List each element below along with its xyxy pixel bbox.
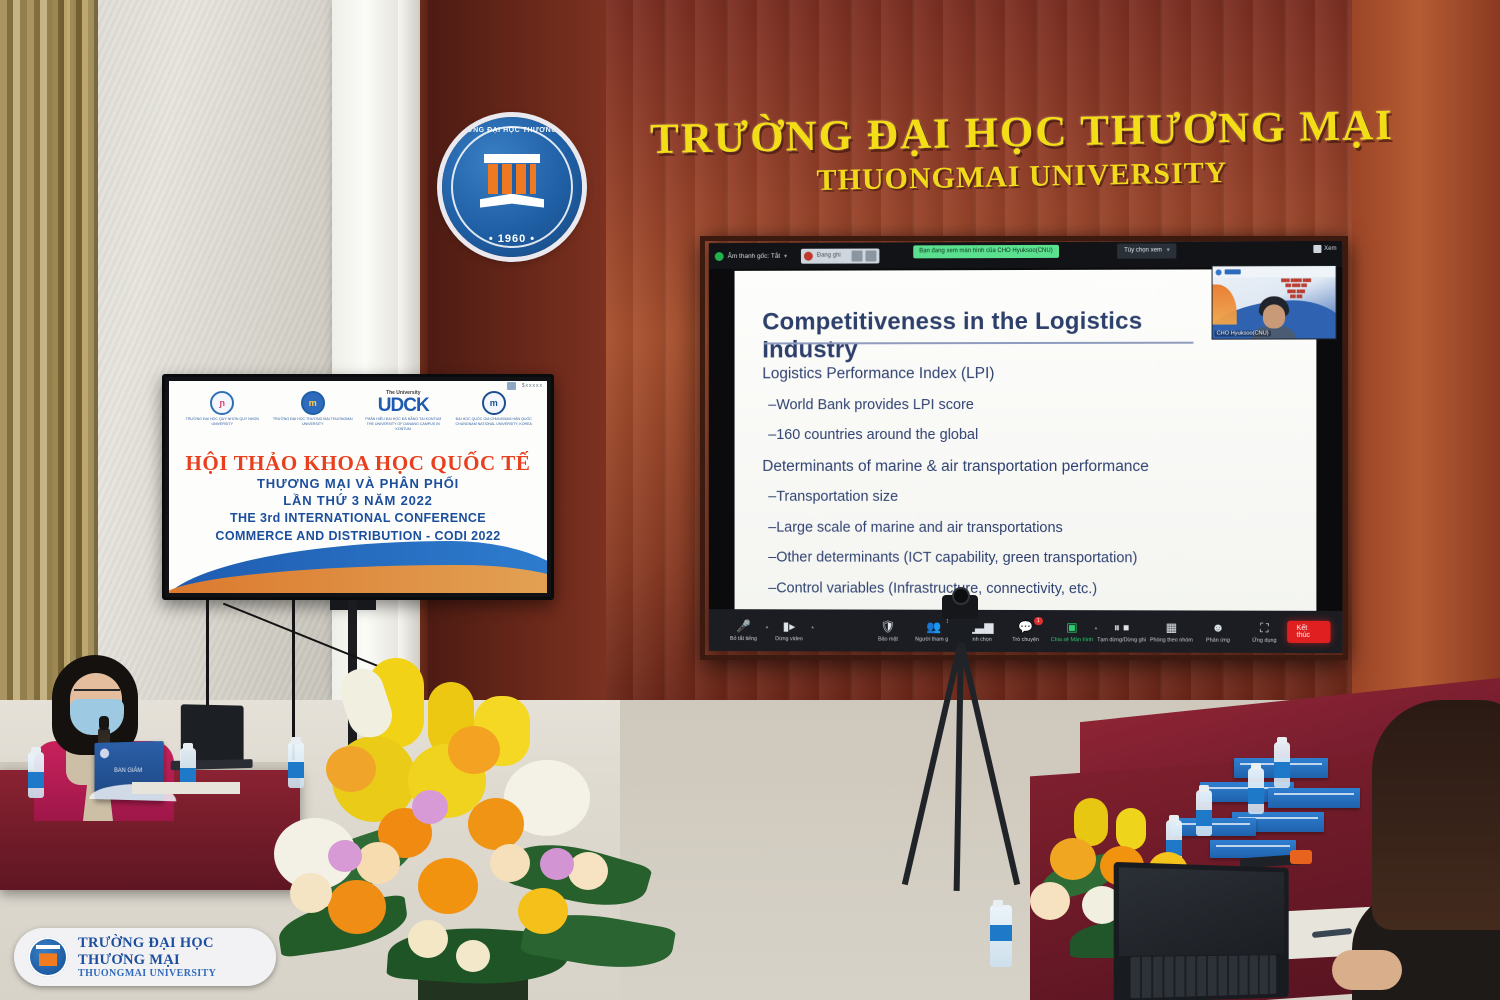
- reactions-icon: ☻: [1212, 620, 1225, 635]
- thumbnail-top-bar: [1213, 266, 1336, 277]
- bottle-label: [1274, 762, 1290, 778]
- seated-person-right: [1372, 700, 1500, 1000]
- breakout-rooms-label: Phòng theo nhóm: [1150, 637, 1193, 643]
- shield-icon: 🛡: [880, 619, 895, 634]
- cream-lily: [456, 940, 490, 972]
- nameplate-text: BAN GIÁM: [95, 768, 164, 774]
- logo-caption: TRƯỜNG ĐẠI HỌC QUY NHƠN QUY NHON UNIVERS…: [180, 417, 264, 427]
- microphone-windscreen: [1290, 850, 1312, 864]
- poster-corner-label: $xxxxx: [522, 383, 543, 389]
- recording-label: Đang ghi: [816, 253, 849, 259]
- slide-bullet: –Large scale of marine and air transport…: [762, 520, 1302, 535]
- breakout-rooms-icon: ▦: [1166, 619, 1177, 634]
- cream-rose: [290, 873, 332, 913]
- purple-chrysanthemum: [540, 848, 574, 880]
- tmu-seal-icon: [28, 937, 68, 977]
- participant-name-label: CHO Hyuksoo(CNU): [1215, 331, 1271, 337]
- avatar-face: [1263, 304, 1285, 328]
- slide-bullet: –Control variables (Infrastructure, conn…: [762, 581, 1302, 597]
- udck-mark: UDCK: [378, 395, 429, 416]
- purple-chrysanthemum: [412, 790, 448, 824]
- quy-nhon-logo-icon: ɲ: [210, 391, 234, 415]
- orange-rose: [1050, 838, 1096, 880]
- cream-rose: [568, 852, 608, 890]
- bottle-cap: [183, 743, 193, 750]
- participant-video-thumbnail[interactable]: ▇▇▇ ▇▇▇▇ ▇▇▇▇▇ ▇▇▇ ▇▇▇▇▇ ▇▇▇▇▇ ▇▇ CHO Hy…: [1212, 265, 1337, 340]
- pause-icon[interactable]: [852, 250, 863, 261]
- gold-curtain-fold: [52, 0, 98, 700]
- view-mode-label: Xem: [1324, 246, 1336, 252]
- chevron-down-icon: ▾: [784, 252, 787, 259]
- mute-indicator-icon: [1216, 269, 1222, 275]
- bottle-label: [990, 925, 1012, 941]
- seal-cap-shape: [484, 154, 540, 163]
- poster-title: HỘI THẢO KHOA HỌC QUỐC TẾ: [169, 451, 547, 476]
- cream-rose: [490, 844, 530, 882]
- bottle-cap: [1277, 737, 1287, 744]
- face-mask: [70, 699, 124, 735]
- bottle-label: [1248, 788, 1264, 804]
- grid-view-icon: [1313, 245, 1321, 253]
- apps-label: Ứng dụng: [1252, 638, 1276, 644]
- poster-subtitle-4: COMMERCE AND DISTRIBUTION - CODI 2022: [169, 529, 547, 543]
- microphone-muted-icon: 🎤: [736, 618, 751, 633]
- thumbnail-backdrop-accent: [1212, 284, 1237, 324]
- poster-logo-row: ɲ TRƯỜNG ĐẠI HỌC QUY NHƠN QUY NHON UNIVE…: [169, 391, 547, 432]
- slide-bullet: –Transportation size: [762, 490, 1302, 505]
- slide-title: Competitiveness in the Logistics Industr…: [762, 308, 1221, 365]
- audio-source-control[interactable]: Âm thanh gốc: Tắt ▾: [715, 251, 787, 260]
- share-screen-icon: ▣: [1066, 619, 1077, 634]
- orange-rose: [448, 726, 500, 774]
- audio-source-label: Âm thanh gốc: Tắt: [728, 252, 780, 259]
- share-screen-button[interactable]: ▣ Chia sẻ Màn hình ▴: [1049, 619, 1096, 643]
- chevron-down-icon: ▾: [1167, 247, 1170, 253]
- water-bottle: [28, 752, 44, 798]
- poster-subtitle-3: THE 3rd INTERNATIONAL CONFERENCE: [169, 511, 547, 525]
- record-icon: [804, 251, 813, 260]
- poster-subtitle-2: LẦN THỨ 3 NĂM 2022: [169, 493, 547, 508]
- conference-room-photo: TRƯỜNG ĐẠI HỌC THƯƠNG MẠI • 1960 • TRƯỜN…: [0, 0, 1500, 1000]
- poster-subtitle-1: THƯƠNG MẠI VÀ PHÂN PHỐI: [169, 476, 547, 491]
- conference-kit-box: [1268, 788, 1360, 808]
- logo-quy-nhon: ɲ TRƯỜNG ĐẠI HỌC QUY NHƠN QUY NHON UNIVE…: [180, 391, 264, 427]
- mute-button-label: Bỏ tắt tiếng: [730, 636, 757, 642]
- person-hand: [1332, 950, 1402, 990]
- orange-rose: [468, 798, 524, 850]
- watermark-badge: TRƯỜNG ĐẠI HỌC THƯƠNG MẠI THUONGMAI UNIV…: [14, 928, 276, 986]
- thumbnail-label-chip: [1225, 269, 1241, 274]
- watermark-line-1: TRƯỜNG ĐẠI HỌC THƯƠNG MẠI: [78, 935, 262, 968]
- flower-bouquet-center: [268, 648, 688, 1000]
- bottle-cap: [1251, 763, 1261, 770]
- tripod-leg: [958, 640, 1020, 885]
- seal-book-shape: [480, 194, 544, 208]
- water-bottle: [1274, 742, 1290, 788]
- bottle-cap: [993, 900, 1003, 907]
- camera-tripod: [900, 595, 1020, 905]
- view-options-label: Tùy chọn xem: [1124, 248, 1162, 254]
- laptop-screen: [1119, 867, 1284, 956]
- cream-rose: [1030, 882, 1070, 920]
- box-label-line: [1274, 793, 1354, 795]
- recording-control-bar[interactable]: Đang ghi: [801, 248, 880, 263]
- view-options-button[interactable]: Tùy chọn xem ▾: [1117, 243, 1177, 258]
- yellow-spray: [1116, 808, 1146, 850]
- reactions-button[interactable]: ☻ Phản ứng: [1195, 620, 1241, 644]
- seal-emblem: [478, 148, 546, 210]
- chevron-up-icon[interactable]: ▴: [811, 624, 813, 630]
- conference-poster-monitor: $xxxxx ɲ TRƯỜNG ĐẠI HỌC QUY NHƠN QUY NHO…: [162, 374, 554, 600]
- stop-video-label: Dừng video: [775, 636, 803, 642]
- person-glasses: [74, 689, 120, 699]
- slide-body: Logistics Performance Index (LPI) –World…: [762, 366, 1302, 613]
- seal-text: TRƯỜNG ĐẠI HỌC THƯƠNG MẠI: [442, 127, 582, 134]
- bottle-cap: [31, 747, 41, 754]
- laptop-keyboard[interactable]: [1131, 955, 1277, 998]
- share-screen-label: Chia sẻ Màn hình: [1051, 637, 1093, 643]
- apps-icon: ⛶: [1260, 620, 1268, 635]
- cream-rose: [356, 842, 400, 884]
- pause-record-icon: ⏸ ⏹: [1114, 619, 1129, 634]
- slide-bullet: –World Bank provides LPI score: [762, 397, 1302, 412]
- logo-caption: PHÂN HIỆU ĐẠI HỌC ĐÀ NẴNG TẠI KONTUM THE…: [361, 417, 445, 432]
- thuongmai-logo-icon: m: [301, 391, 325, 415]
- yellow-rose: [518, 888, 568, 934]
- water-bottle: [990, 905, 1012, 967]
- slide-bullet: –Other determinants (ICT capability, gre…: [762, 551, 1302, 567]
- cream-lily: [408, 920, 448, 958]
- logo-udck: The University UDCK PHÂN HIỆU ĐẠI HỌC ĐÀ…: [361, 391, 445, 432]
- apps-button[interactable]: ⛶ Ứng dụng: [1241, 620, 1287, 644]
- bottle-label: [28, 772, 44, 788]
- poster-top-strip: $xxxxx: [433, 381, 543, 390]
- conference-poster: $xxxxx ɲ TRƯỜNG ĐẠI HỌC QUY NHƠN QUY NHO…: [169, 381, 547, 593]
- udck-logo-icon: The University UDCK: [361, 391, 445, 415]
- screen-share-banner: Bạn đang xem màn hình của CHO Hyuksoo(CN…: [913, 245, 1058, 258]
- box-label-line: [1216, 845, 1290, 847]
- audio-active-icon: [715, 252, 724, 261]
- watermark-text: TRƯỜNG ĐẠI HỌC THƯƠNG MẠI THUONGMAI UNIV…: [78, 935, 262, 979]
- logo-caption: TRƯỜNG ĐẠI HỌC THƯƠNG MẠI THUONGMAI UNIV…: [271, 417, 355, 427]
- chungnam-logo-icon: m: [482, 391, 506, 415]
- stop-icon[interactable]: [866, 250, 877, 261]
- security-label: Bảo mật: [878, 637, 898, 643]
- orange-rose: [418, 858, 478, 914]
- view-mode-button[interactable]: Xem: [1313, 245, 1337, 253]
- tripod-head: [948, 617, 972, 643]
- watermark-line-2: THUONGMAI UNIVERSITY: [78, 968, 262, 979]
- seal-year: • 1960 •: [442, 233, 582, 245]
- purple-chrysanthemum: [328, 840, 362, 872]
- stop-video-button[interactable]: ▮▸ Dừng video ▴: [766, 618, 812, 642]
- end-meeting-button[interactable]: Kết thúc: [1288, 621, 1331, 643]
- pause-recording-label: Tạm dừng/Dừng ghi: [1097, 637, 1146, 643]
- nameplate-seal-icon: [100, 748, 109, 758]
- orange-rose: [328, 880, 386, 934]
- laptop-right[interactable]: [1114, 862, 1289, 1000]
- chat-unread-badge: 1: [1034, 617, 1043, 625]
- logo-chungnam: m ĐẠI HỌC QUỐC GIA CHUNGNAM HÀN QUỐC CHU…: [452, 391, 536, 427]
- orange-rose: [326, 746, 376, 792]
- camera-lens-icon: [952, 587, 970, 605]
- paper-document: [132, 782, 240, 794]
- chat-icon: 💬: [1018, 619, 1033, 634]
- zoom-bottom-toolbar: 🎤 Bỏ tắt tiếng ▴ ▮▸ Dừng video ▴ 🛡 Bảo m…: [709, 609, 1343, 653]
- person-hair: [1372, 700, 1500, 930]
- logo-caption: ĐẠI HỌC QUỐC GIA CHUNGNAM HÀN QUỐC CHUNG…: [452, 417, 536, 427]
- mute-button[interactable]: 🎤 Bỏ tắt tiếng ▴: [721, 618, 767, 642]
- water-bottle: [1248, 768, 1264, 814]
- projection-screen: Âm thanh gốc: Tắt ▾ Đang ghi Bạn đang xe…: [709, 241, 1343, 653]
- breakout-rooms-button[interactable]: ▦ Phòng theo nhóm: [1148, 619, 1195, 643]
- slide-bullet: Logistics Performance Index (LPI): [762, 366, 1302, 382]
- university-seal-icon: TRƯỜNG ĐẠI HỌC THƯƠNG MẠI • 1960 •: [442, 117, 582, 257]
- slide-bullet: Determinants of marine & air transportat…: [762, 458, 1302, 474]
- video-camera-icon: ▮▸: [783, 618, 796, 633]
- seal-pillars-shape: [488, 164, 536, 194]
- image-icon: [507, 382, 516, 390]
- reactions-label: Phản ứng: [1206, 638, 1230, 644]
- pause-recording-button[interactable]: ⏸ ⏹ Tạm dừng/Dừng ghi: [1095, 619, 1148, 643]
- logo-thuongmai: m TRƯỜNG ĐẠI HỌC THƯƠNG MẠI THUONGMAI UN…: [271, 391, 355, 427]
- slide-bullet: –160 countries around the global: [762, 428, 1302, 443]
